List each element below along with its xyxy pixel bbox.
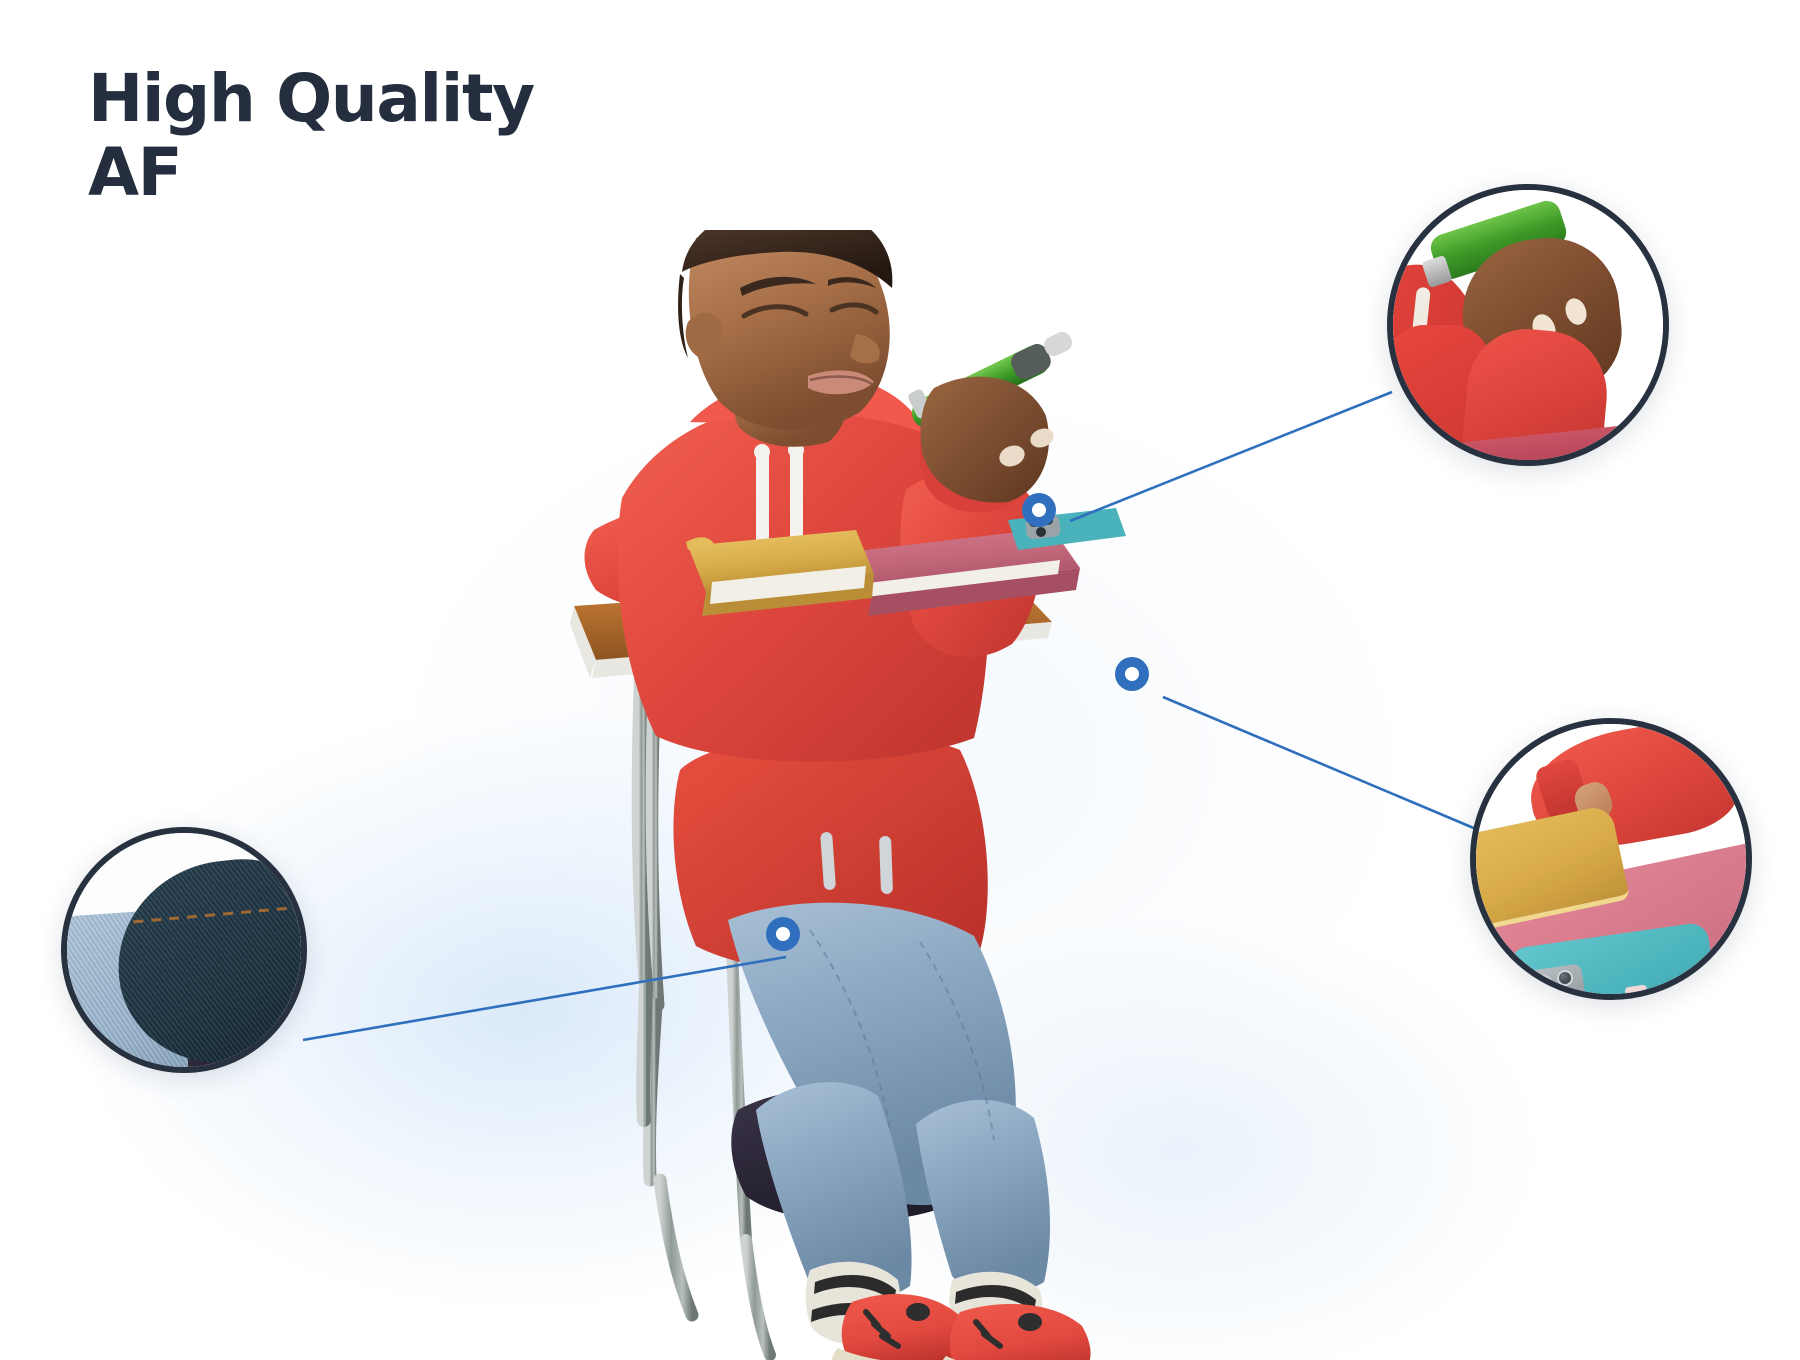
connector-line-books xyxy=(1163,697,1476,829)
head xyxy=(678,230,892,430)
camera-lens-icon xyxy=(1557,970,1573,986)
student-character-illustration xyxy=(560,230,1180,1360)
detail-circle-books-phone[interactable] xyxy=(1470,718,1752,1000)
desk-frame xyxy=(639,642,646,1120)
camera-lens-icon xyxy=(1535,975,1551,991)
scene-background: High Quality AF xyxy=(0,0,1800,1360)
pen-detail-marker[interactable] xyxy=(1022,493,1056,527)
jeans-detail-marker[interactable] xyxy=(766,917,800,951)
page-title: High Quality AF xyxy=(88,62,534,210)
sneaker-right xyxy=(940,1304,1091,1360)
detail-circle-pen-hand[interactable] xyxy=(1387,184,1669,466)
books-detail-marker[interactable] xyxy=(1115,657,1149,691)
leg-right-shin xyxy=(916,1100,1050,1295)
detail-circle-denim[interactable] xyxy=(61,827,307,1073)
